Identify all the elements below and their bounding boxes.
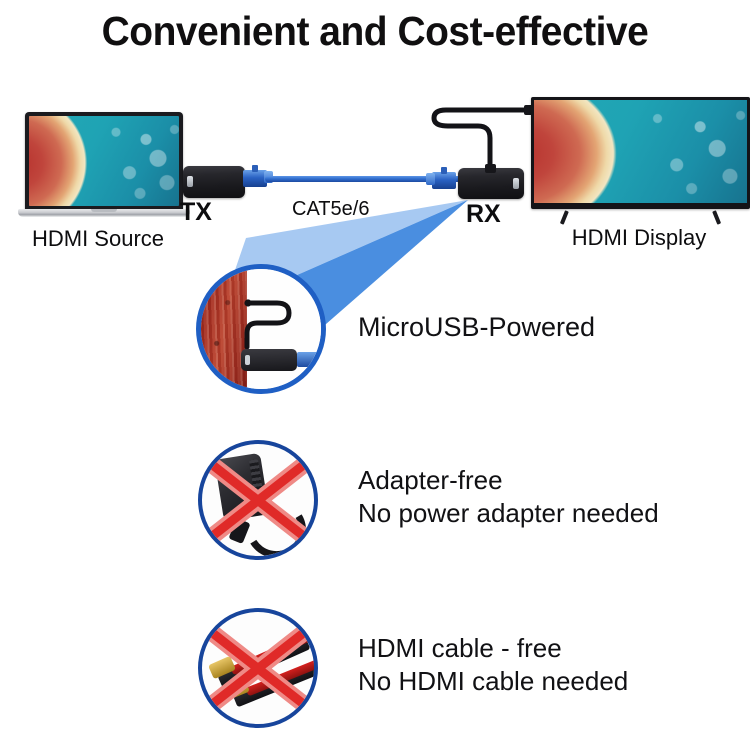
tv-icon: [531, 97, 750, 215]
feature-line: Adapter-free: [358, 464, 659, 497]
magnified-rj45-plug-icon: [297, 352, 323, 367]
hdmi-display-label: HDMI Display: [528, 225, 750, 251]
feature-adapter-free-text: Adapter-free No power adapter needed: [358, 464, 659, 530]
laptop-notch: [91, 209, 117, 212]
grapefruit-wallpaper-image: [29, 116, 179, 206]
infographic-canvas: Convenient and Cost-effective HDMI Sourc…: [0, 0, 750, 750]
red-cross-out-icon: [202, 444, 314, 556]
laptop-lid: [25, 112, 183, 210]
page-title: Convenient and Cost-effective: [19, 8, 732, 55]
feature-line: HDMI cable - free: [358, 632, 628, 665]
grapefruit-wallpaper-image: [534, 100, 747, 203]
tx-dongle-icon: [183, 166, 245, 198]
feature-line: MicroUSB-Powered: [358, 310, 595, 344]
laptop-screen: [29, 116, 179, 206]
feature-microusb-text: MicroUSB-Powered: [358, 310, 595, 344]
feature-line: No power adapter needed: [358, 497, 659, 530]
tv-screen: [534, 100, 747, 203]
tv-bezel: [531, 97, 750, 209]
red-cross-out-icon: [202, 612, 314, 724]
magnified-rx-dongle-icon: [196, 264, 326, 394]
magnified-dongle-led: [245, 355, 250, 365]
rx-led-icon: [513, 178, 519, 189]
feature-hdmi-cable-free-text: HDMI cable - free No HDMI cable needed: [358, 632, 628, 698]
tv-leg-right: [712, 210, 721, 224]
magnified-hdmi-cable-icon: [201, 269, 321, 389]
tv-leg-left: [560, 210, 569, 224]
feature-line: No HDMI cable needed: [358, 665, 628, 698]
rj45-tab: [252, 165, 258, 172]
power-adapter-icon: [198, 440, 318, 560]
hdmi-cable-icon: [428, 104, 543, 176]
tx-led-icon: [187, 176, 193, 187]
hdmi-cable-icon: [198, 608, 318, 728]
laptop-icon: [18, 112, 190, 224]
hdmi-source-label: HDMI Source: [0, 226, 196, 252]
tx-rj45-plug-icon: [243, 170, 267, 187]
